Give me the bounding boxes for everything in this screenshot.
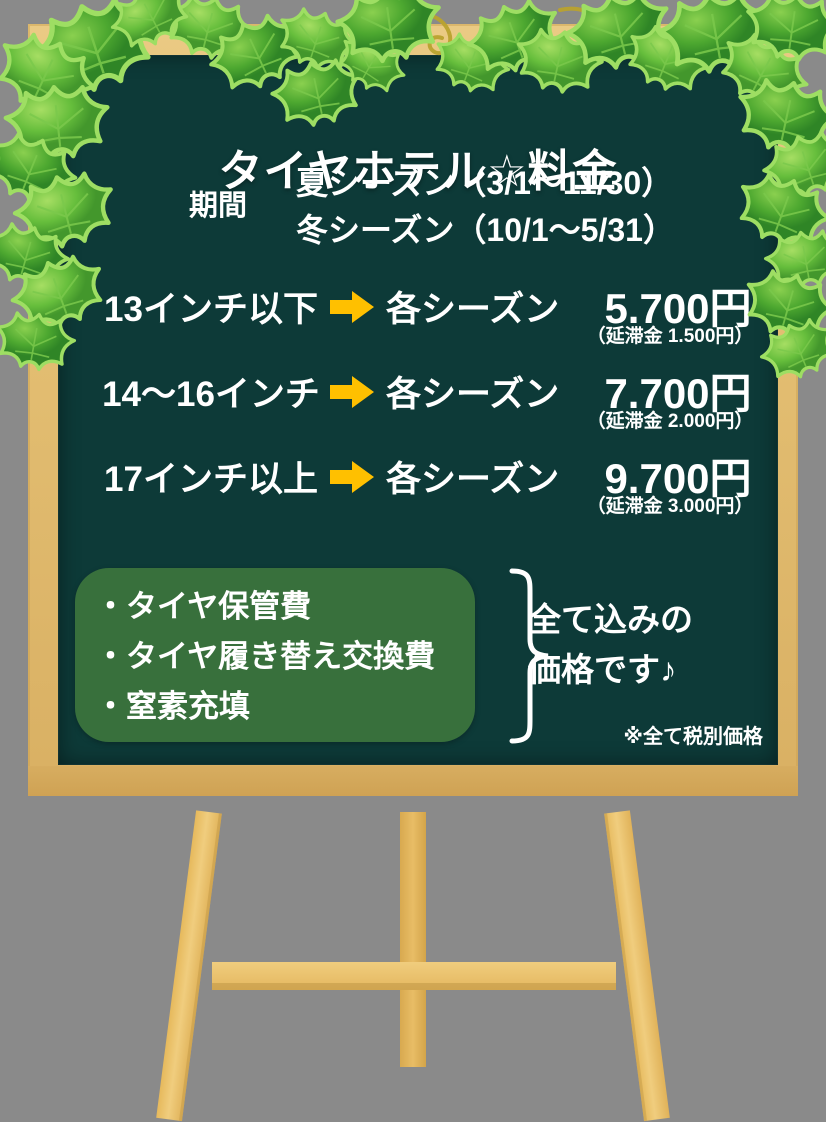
table-row: 13インチ以下 各シーズン 5.700円 （延滞金 1.500円）	[58, 277, 778, 362]
list-item: タイヤ保管費	[95, 582, 465, 632]
included-note-line-1: 全て込みの	[528, 595, 758, 645]
easel-center-leg	[400, 812, 426, 1067]
table-row: 17インチ以上 各シーズン 9.700円 （延滞金 3.000円）	[58, 447, 778, 532]
included-note: 全て込みの 価格です♪	[528, 595, 758, 695]
price-table: 13インチ以下 各シーズン 5.700円 （延滞金 1.500円） 14〜16イ…	[58, 277, 778, 532]
row-season-label: 各シーズン	[386, 451, 559, 502]
chalkboard-surface: タイヤホテル☆料金 期間 夏シーズン（3/1〜11/30） 冬シーズン（10/1…	[58, 55, 778, 765]
list-item: タイヤ履き替え交換費	[95, 632, 465, 682]
period-lines: 夏シーズン（3/1〜11/30） 冬シーズン（10/1〜5/31）	[296, 160, 766, 254]
included-note-line-2: 価格です♪	[528, 645, 758, 695]
row-size-label: 14〜16インチ	[86, 366, 336, 417]
row-season-label: 各シーズン	[386, 366, 559, 417]
included-services-box: タイヤ保管費 タイヤ履き替え交換費 窒素充填	[75, 568, 475, 742]
period-line-summer: 夏シーズン（3/1〜11/30）	[296, 160, 766, 207]
period-section: 期間 夏シーズン（3/1〜11/30） 冬シーズン（10/1〜5/31）	[58, 160, 778, 250]
right-arrow-icon	[330, 291, 374, 323]
period-line-winter: 冬シーズン（10/1〜5/31）	[296, 207, 766, 254]
easel-signboard: タイヤホテル☆料金 期間 夏シーズン（3/1〜11/30） 冬シーズン（10/1…	[0, 0, 826, 1122]
row-size-label: 17インチ以上	[86, 451, 336, 502]
board-frame-shadow	[28, 766, 798, 796]
tax-note: ※全て税別価格	[513, 720, 763, 749]
easel-crossbar	[212, 962, 616, 990]
row-season-label: 各シーズン	[386, 281, 559, 332]
right-arrow-icon	[330, 461, 374, 493]
right-arrow-icon	[330, 376, 374, 408]
period-label: 期間	[158, 182, 278, 224]
included-services-list: タイヤ保管費 タイヤ履き替え交換費 窒素充填	[95, 582, 465, 732]
row-late-fee: （延滞金 2.000円）	[562, 406, 778, 433]
list-item: 窒素充填	[95, 682, 465, 732]
table-row: 14〜16インチ 各シーズン 7.700円 （延滞金 2.000円）	[58, 362, 778, 447]
row-late-fee: （延滞金 1.500円）	[562, 321, 778, 348]
row-size-label: 13インチ以下	[86, 281, 336, 332]
row-late-fee: （延滞金 3.000円）	[562, 491, 778, 518]
